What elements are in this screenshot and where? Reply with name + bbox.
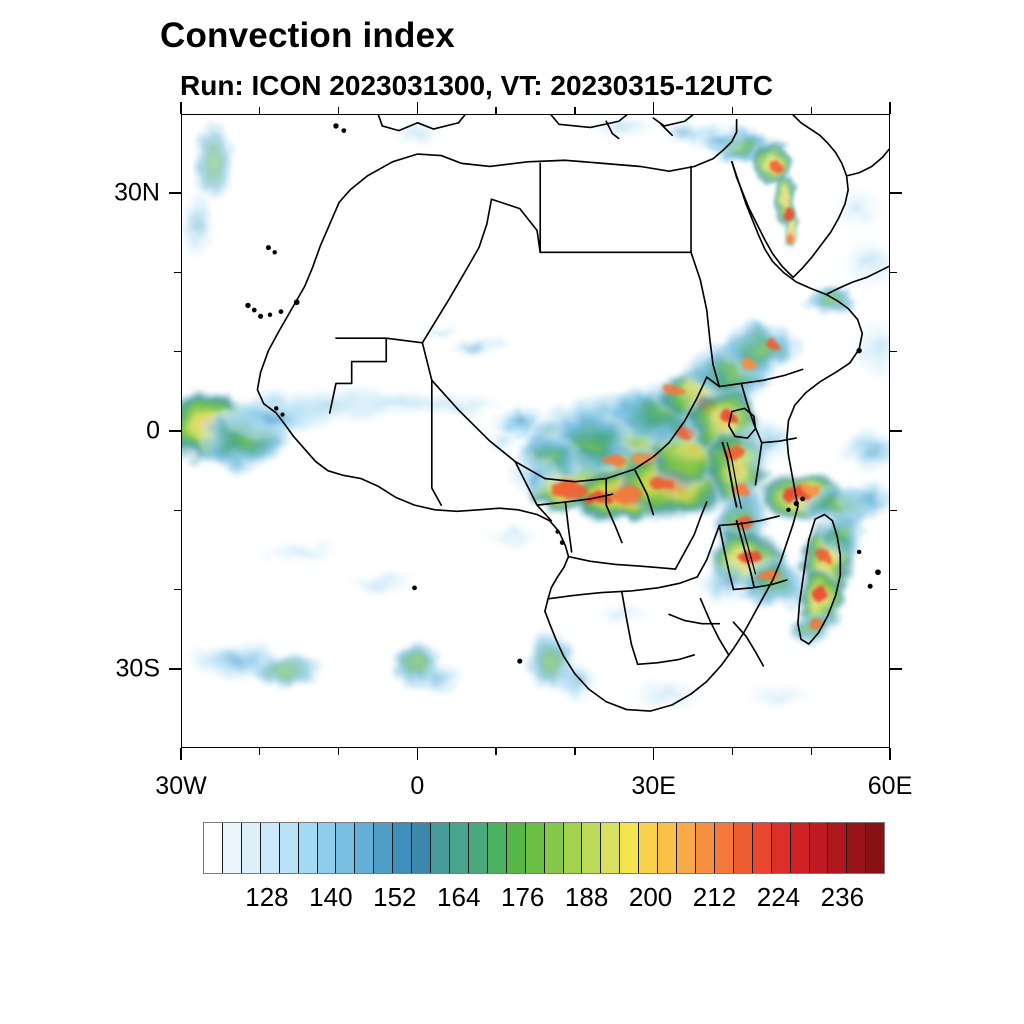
colorbar-tick-label: 236: [821, 882, 864, 913]
colorbar-cell: [280, 823, 299, 873]
colorbar-cell: [336, 823, 355, 873]
colorbar-cell: [507, 823, 526, 873]
colorbar-tick-label: 164: [437, 882, 480, 913]
colorbar-cell: [223, 823, 242, 873]
colorbar: [203, 822, 885, 874]
y-axis-major-tick-right: [890, 430, 902, 432]
x-axis-major-tick: [889, 748, 891, 760]
colorbar-cell: [450, 823, 469, 873]
y-axis-minor-tick-right: [890, 589, 897, 590]
colorbar-cell: [431, 823, 450, 873]
y-axis-major-tick: [169, 668, 181, 670]
y-axis-minor-tick-right: [890, 351, 897, 352]
colorbar-cell: [696, 823, 715, 873]
x-axis-minor-tick-top: [495, 107, 496, 114]
colorbar-cell: [299, 823, 318, 873]
y-axis-minor-tick-right: [890, 272, 897, 273]
colorbar-cell: [639, 823, 658, 873]
y-axis-minor-tick: [174, 510, 181, 511]
x-axis-major-tick: [180, 748, 182, 760]
y-axis-label: 0: [60, 417, 160, 446]
colorbar-cell: [564, 823, 583, 873]
x-axis-minor-tick-top: [259, 107, 260, 114]
x-axis-minor-tick: [495, 748, 496, 755]
colorbar-cell: [318, 823, 337, 873]
x-axis-minor-tick: [732, 748, 733, 755]
colorbar-cell: [601, 823, 620, 873]
y-axis-major-tick-right: [890, 192, 902, 194]
colorbar-cell: [526, 823, 545, 873]
colorbar-cell: [545, 823, 564, 873]
colorbar-tick-label: 128: [245, 882, 288, 913]
x-axis-minor-tick: [338, 748, 339, 755]
x-axis-major-tick-top: [417, 102, 419, 114]
colorbar-cell: [204, 823, 223, 873]
y-axis-major-tick: [169, 430, 181, 432]
colorbar-tick-label: 188: [565, 882, 608, 913]
colorbar-tick-labels: 128140152164176188200212224236: [0, 882, 1024, 916]
colorbar-tick-label: 212: [693, 882, 736, 913]
colorbar-cell: [847, 823, 866, 873]
colorbar-tick-label: 224: [757, 882, 800, 913]
colorbar-cell: [828, 823, 847, 873]
x-axis-minor-tick-top: [574, 107, 575, 114]
x-axis-minor-tick-top: [732, 107, 733, 114]
colorbar-cell: [242, 823, 261, 873]
page-subtitle: Run: ICON 2023031300, VT: 20230315-12UTC: [180, 70, 773, 102]
x-axis-major-tick: [417, 748, 419, 760]
map-plot-area: [181, 114, 890, 748]
x-axis-minor-tick: [574, 748, 575, 755]
y-axis-major-tick: [169, 192, 181, 194]
y-axis-minor-tick: [174, 272, 181, 273]
x-axis-minor-tick: [811, 748, 812, 755]
colorbar-cell: [791, 823, 810, 873]
x-axis-minor-tick-top: [811, 107, 812, 114]
x-axis-major-tick: [653, 748, 655, 760]
x-axis-label: 30W: [155, 772, 206, 801]
y-axis-minor-tick-right: [890, 510, 897, 511]
colorbar-cell: [393, 823, 412, 873]
y-axis-major-tick-right: [890, 668, 902, 670]
x-axis-minor-tick-top: [338, 107, 339, 114]
colorbar-cell: [734, 823, 753, 873]
colorbar-cell: [677, 823, 696, 873]
colorbar-cell: [715, 823, 734, 873]
colorbar-cell: [469, 823, 488, 873]
colorbar-cell: [374, 823, 393, 873]
y-axis-minor-tick: [174, 589, 181, 590]
convection-index-map: [182, 115, 889, 747]
y-axis-label: 30N: [60, 179, 160, 208]
page-title: Convection index: [160, 16, 455, 56]
colorbar-cell: [582, 823, 601, 873]
colorbar-cell: [810, 823, 829, 873]
colorbar-cell: [866, 823, 884, 873]
x-axis-major-tick-top: [889, 102, 891, 114]
colorbar-cell: [412, 823, 431, 873]
x-axis-major-tick-top: [653, 102, 655, 114]
x-axis-major-tick-top: [180, 102, 182, 114]
x-axis-label: 30E: [631, 772, 675, 801]
x-axis-label: 60E: [868, 772, 912, 801]
figure-canvas: Convection index Run: ICON 2023031300, V…: [0, 0, 1024, 1024]
colorbar-cell: [753, 823, 772, 873]
colorbar-tick-label: 176: [501, 882, 544, 913]
colorbar-cell: [772, 823, 791, 873]
x-axis-minor-tick: [259, 748, 260, 755]
y-axis-label: 30S: [60, 654, 160, 683]
colorbar-cell: [355, 823, 374, 873]
x-axis-label: 0: [410, 772, 424, 801]
colorbar-tick-label: 140: [309, 882, 352, 913]
y-axis-minor-tick: [174, 351, 181, 352]
colorbar-tick-label: 200: [629, 882, 672, 913]
colorbar-cell: [620, 823, 639, 873]
colorbar-cell: [488, 823, 507, 873]
colorbar-tick-label: 152: [373, 882, 416, 913]
colorbar-cell: [658, 823, 677, 873]
colorbar-cell: [261, 823, 280, 873]
